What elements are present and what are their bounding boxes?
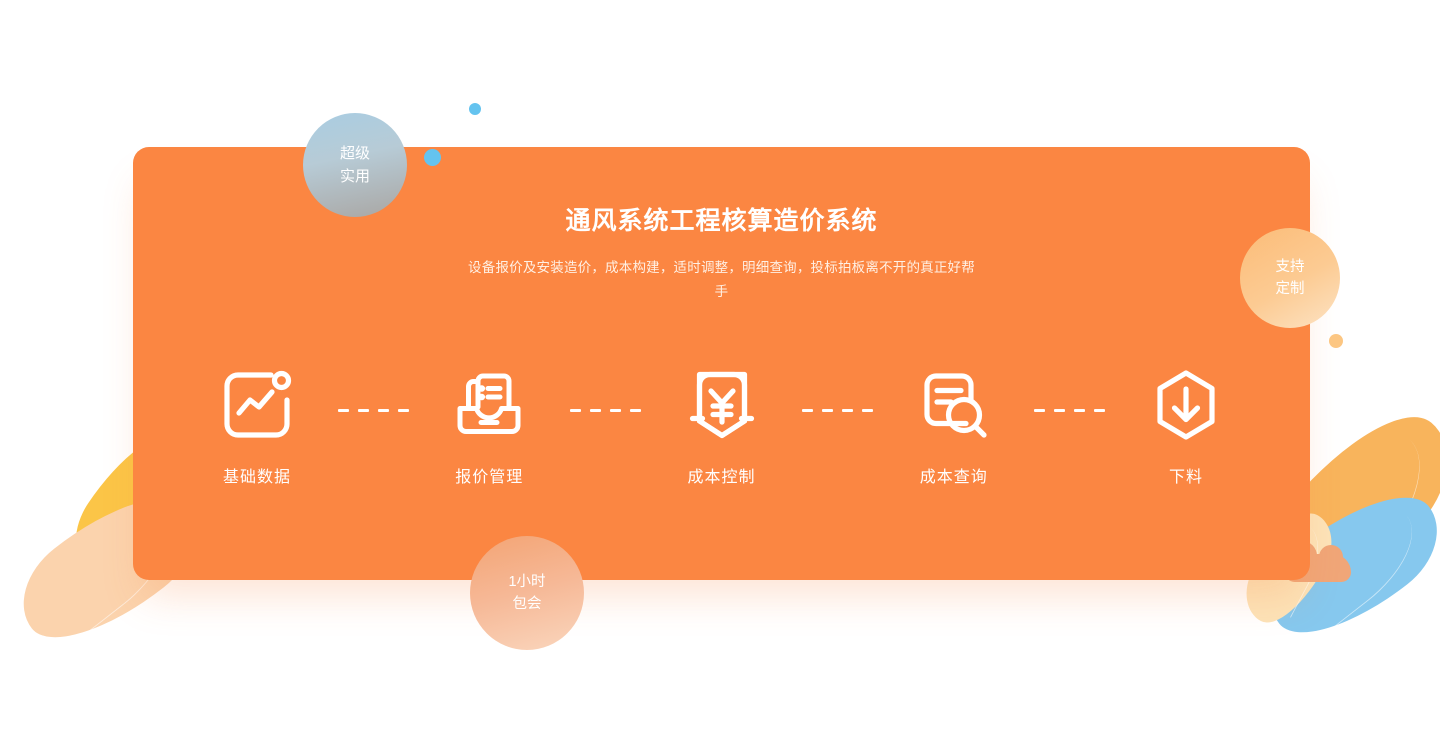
step-label: 基础数据 [223,463,291,487]
badge-supports-customization[interactable]: 支持 定制 [1240,228,1340,328]
step-quotation-management[interactable]: 报价管理 [425,365,553,487]
product-card: 通风系统工程核算造价系统 设备报价及安装造价，成本构建，适时调整，明细查询，投标… [133,147,1310,580]
orange-dot-icon [1329,334,1343,348]
badge-line-1: 超级 [340,142,370,165]
document-search-icon [914,365,994,445]
inbox-document-icon [449,365,529,445]
step-cost-control[interactable]: 成本控制 [658,365,786,487]
step-label: 成本查询 [920,463,988,487]
step-connector-4 [1018,409,1122,412]
page-title: 通风系统工程核算造价系统 [133,209,1310,234]
badge-super-practical[interactable]: 超级 实用 [303,113,407,217]
promo-banner: 通风系统工程核算造价系统 设备报价及安装造价，成本构建，适时调整，明细查询，投标… [0,0,1440,730]
step-connector-3 [786,409,890,412]
blue-dot-small-icon [469,103,481,115]
yuan-shield-icon [682,365,762,445]
step-cost-query[interactable]: 成本查询 [890,365,1018,487]
step-cutting[interactable]: 下料 [1122,365,1250,487]
blue-dot-large-icon [424,149,441,166]
step-connector-2 [553,409,657,412]
badge-line-2: 定制 [1276,278,1305,300]
step-basic-data[interactable]: 基础数据 [193,365,321,487]
badge-line-1: 1小时 [508,571,545,593]
chart-card-icon [217,365,297,445]
step-label: 报价管理 [455,463,523,487]
page-subtitle: 设备报价及安装造价，成本构建，适时调整，明细查询，投标拍板离不开的真正好帮手 [467,256,977,304]
step-connector-1 [321,409,425,412]
hexagon-download-icon [1146,365,1226,445]
badge-one-hour-mastery[interactable]: 1小时 包会 [470,536,584,650]
step-label: 成本控制 [687,463,755,487]
badge-line-1: 支持 [1276,256,1305,278]
badge-line-2: 包会 [513,593,542,615]
badge-line-2: 实用 [340,165,370,188]
step-label: 下料 [1169,463,1203,487]
headline-block: 通风系统工程核算造价系统 设备报价及安装造价，成本构建，适时调整，明细查询，投标… [133,209,1310,304]
feature-steps: 基础数据 报价管理 [193,365,1250,487]
